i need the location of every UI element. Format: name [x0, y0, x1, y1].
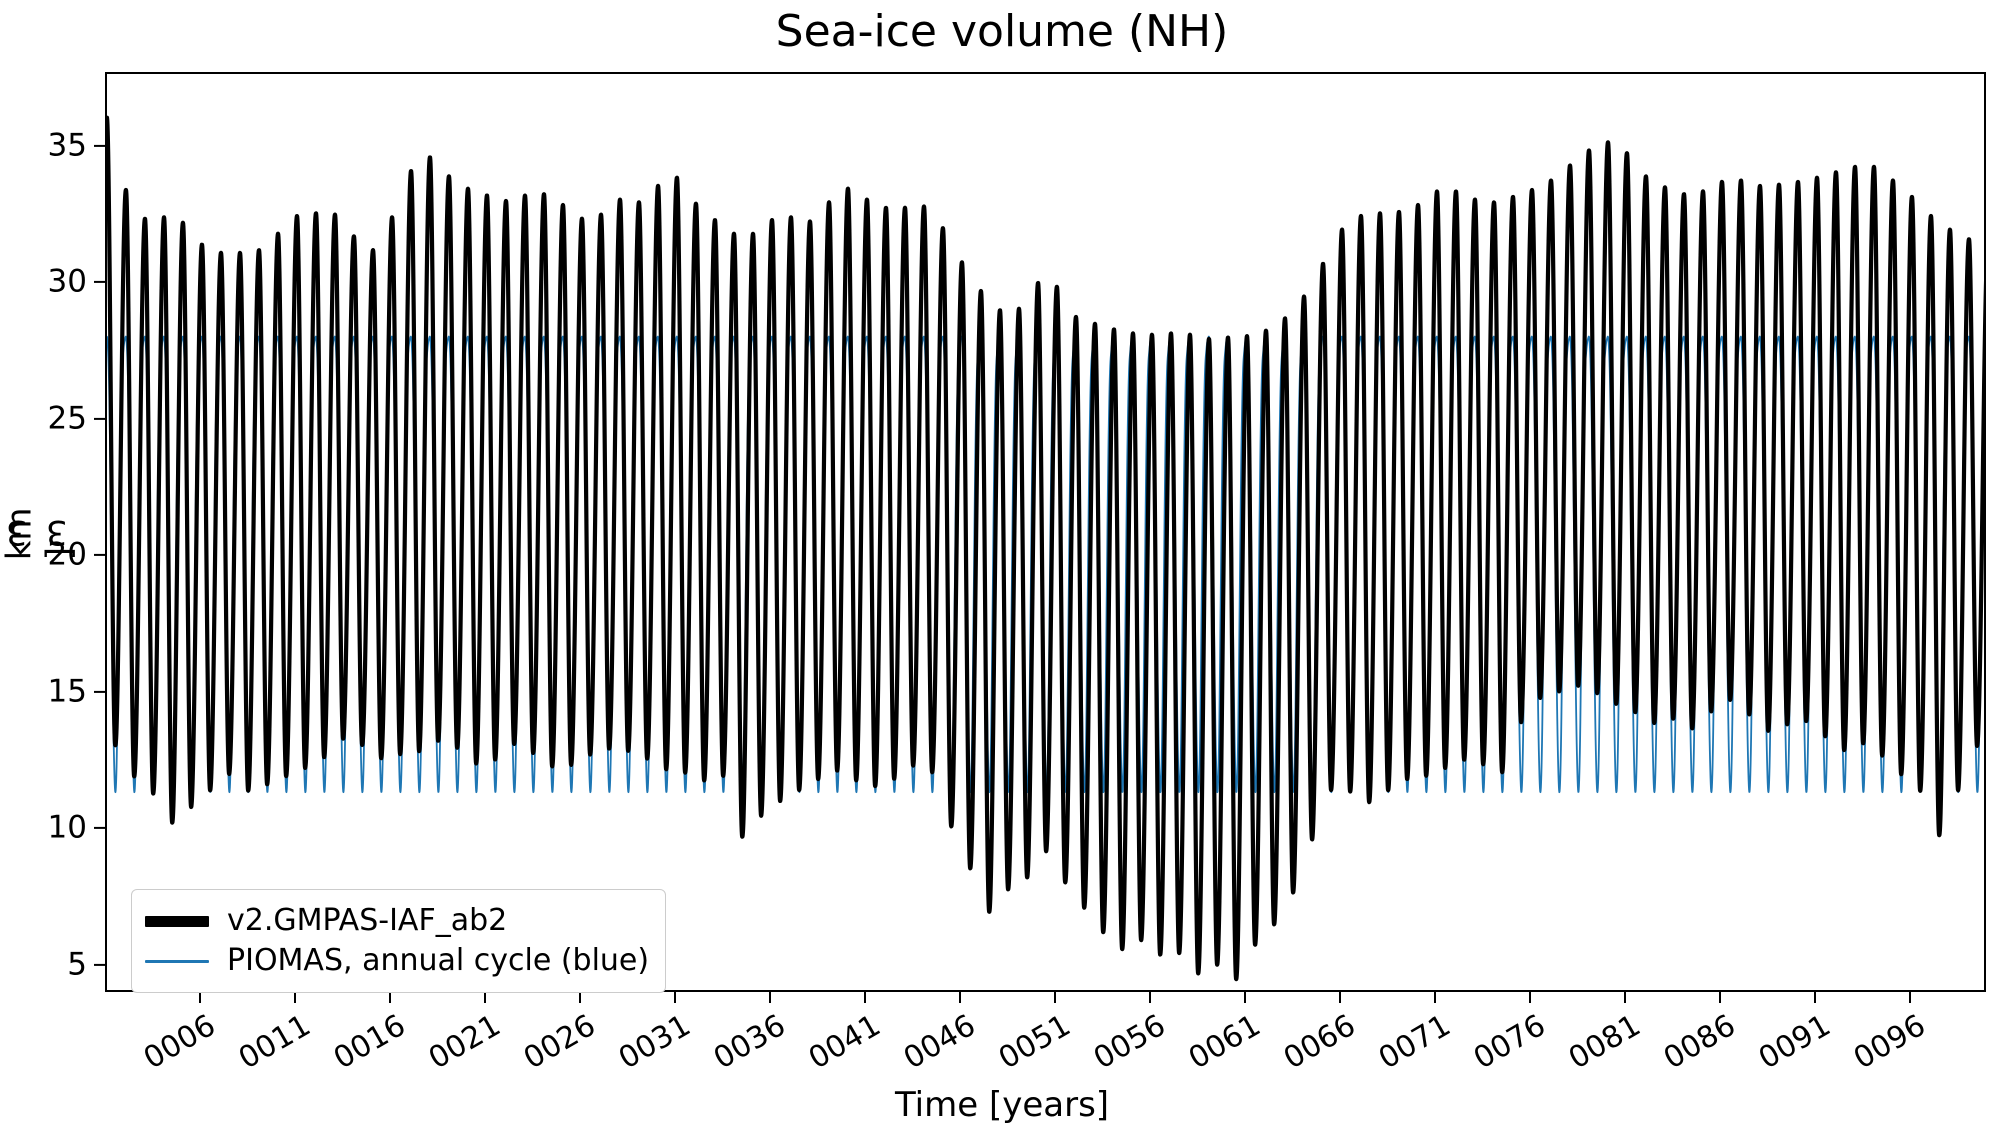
x-tick-mark [864, 992, 866, 1003]
x-tick-label: 0031 [608, 1008, 697, 1079]
y-tick-label: 35 [48, 130, 87, 161]
x-tick-mark [1434, 992, 1436, 1003]
plot-svg [107, 74, 1986, 992]
x-tick-mark [1339, 992, 1341, 1003]
x-tick-label: 0086 [1653, 1008, 1742, 1079]
y-tick-label: 25 [48, 403, 87, 434]
legend-label-piomas: PIOMAS, annual cycle (blue) [227, 946, 649, 976]
x-tick-label: 0066 [1273, 1008, 1362, 1079]
model-volume-path [107, 118, 1986, 979]
x-tick-label: 0051 [988, 1008, 1077, 1079]
x-tick-mark [294, 992, 296, 1003]
x-tick-mark [484, 992, 486, 1003]
x-tick-mark [1909, 992, 1911, 1003]
x-tick-label: 0056 [1083, 1008, 1172, 1079]
y-tick-label: 10 [48, 813, 87, 844]
y-tick-label: 20 [48, 540, 87, 571]
x-tick-label: 0061 [1178, 1008, 1267, 1079]
x-tick-label: 0016 [323, 1008, 412, 1079]
x-tick-mark [579, 992, 581, 1003]
x-tick-mark [389, 992, 391, 1003]
x-tick-mark [1624, 992, 1626, 1003]
x-tick-mark [1719, 992, 1721, 1003]
chart-legend: v2.GMPAS-IAF_ab2 PIOMAS, annual cycle (b… [131, 889, 666, 993]
legend-label-model: v2.GMPAS-IAF_ab2 [227, 906, 507, 936]
legend-swatch-model [145, 916, 209, 927]
legend-item-piomas: PIOMAS, annual cycle (blue) [145, 941, 649, 981]
x-tick-label: 0096 [1843, 1008, 1932, 1079]
y-tick-mark [94, 418, 105, 420]
x-tick-label: 0046 [893, 1008, 982, 1079]
x-tick-mark [1149, 992, 1151, 1003]
y-tick-mark [94, 827, 105, 829]
y-tick-label: 30 [48, 267, 87, 298]
x-tick-label: 0076 [1463, 1008, 1552, 1079]
x-tick-label: 0011 [228, 1008, 317, 1079]
x-tick-mark [674, 992, 676, 1003]
x-axis-label: Time [years] [0, 1085, 2004, 1125]
y-tick-mark [94, 281, 105, 283]
x-tick-label: 0081 [1558, 1008, 1647, 1079]
legend-item-model: v2.GMPAS-IAF_ab2 [145, 901, 649, 941]
legend-swatch-piomas [145, 960, 209, 963]
x-tick-label: 0026 [513, 1008, 602, 1079]
y-tick-label: 5 [67, 949, 87, 980]
y-tick-mark [94, 964, 105, 966]
x-tick-mark [1054, 992, 1056, 1003]
x-tick-label: 0036 [703, 1008, 792, 1079]
figure-canvas: Sea-ice volume (NH) [103 km3] 5101520253… [0, 0, 2004, 1141]
x-tick-mark [1814, 992, 1816, 1003]
y-tick-label: 15 [48, 676, 87, 707]
chart-title: Sea-ice volume (NH) [0, 6, 2004, 57]
y-axis-ticks: 5101520253035 [0, 72, 105, 992]
x-tick-mark [769, 992, 771, 1003]
y-tick-mark [94, 691, 105, 693]
plot-area [105, 72, 1986, 992]
y-tick-mark [94, 145, 105, 147]
y-tick-mark [94, 554, 105, 556]
x-tick-label: 0006 [133, 1008, 222, 1079]
x-tick-label: 0021 [418, 1008, 507, 1079]
x-tick-mark [959, 992, 961, 1003]
x-tick-label: 0091 [1748, 1008, 1837, 1079]
x-tick-label: 0041 [798, 1008, 887, 1079]
x-tick-label: 0071 [1368, 1008, 1457, 1079]
x-tick-mark [1529, 992, 1531, 1003]
series-model-line [107, 118, 1986, 979]
x-tick-mark [199, 992, 201, 1003]
x-tick-mark [1244, 992, 1246, 1003]
